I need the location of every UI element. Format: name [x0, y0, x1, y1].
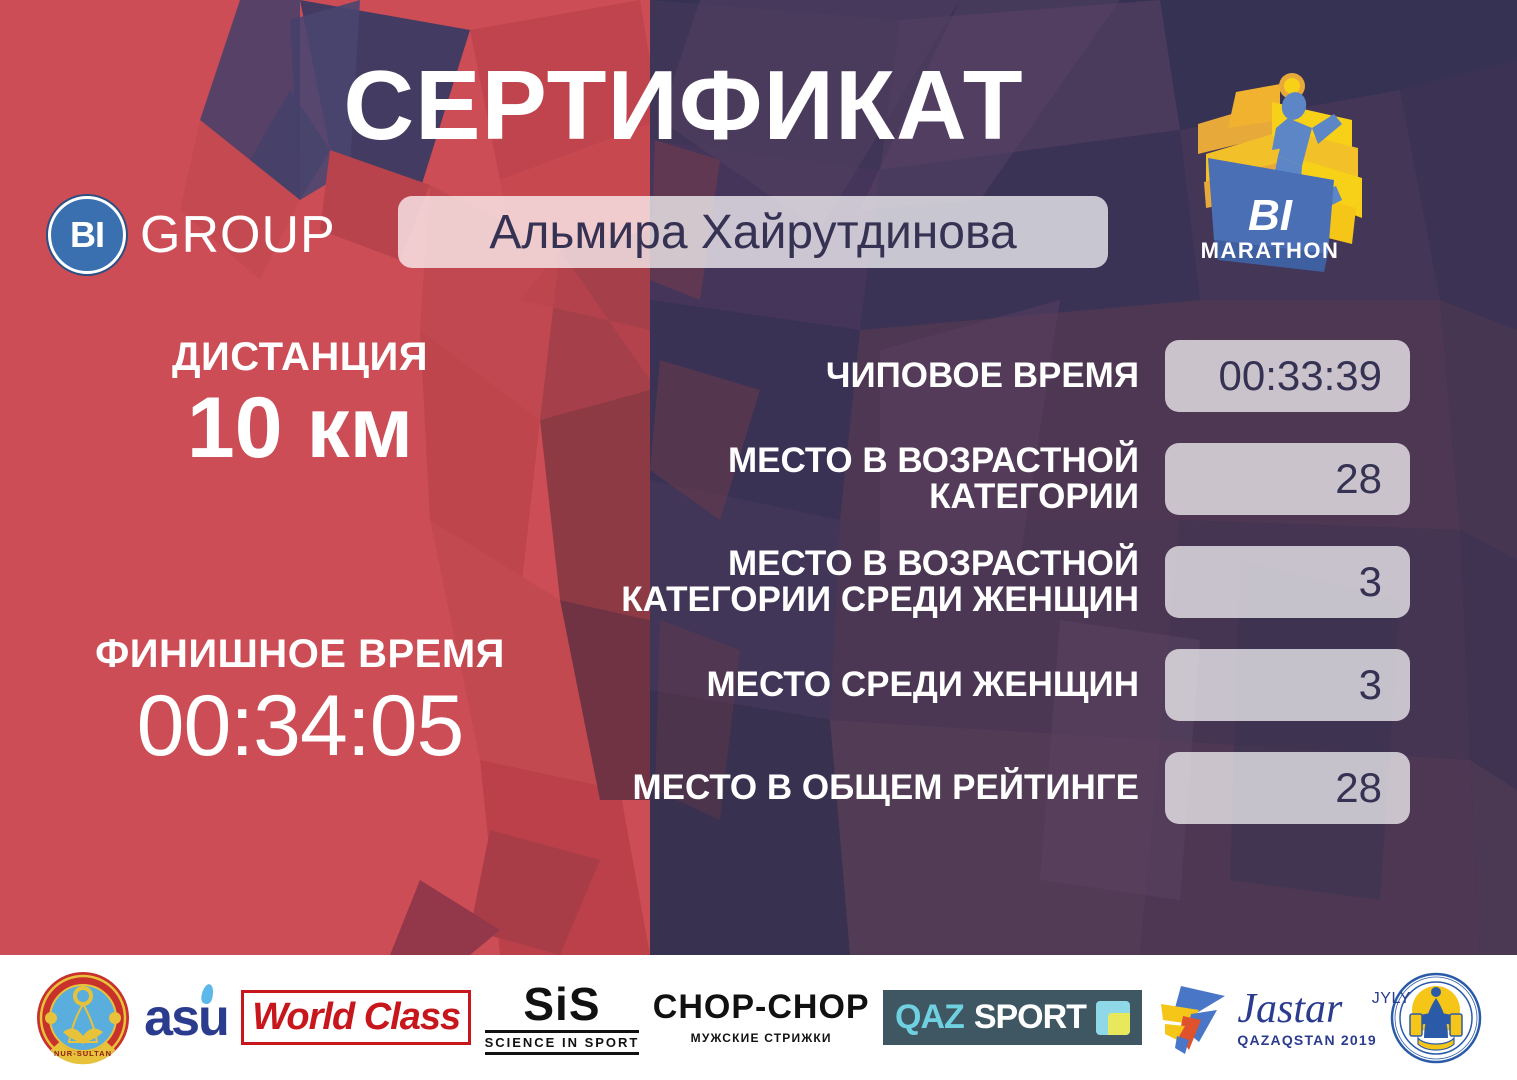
- sponsor-world-class-label: World Class: [241, 990, 471, 1045]
- sponsor-sis-tagline: SCIENCE IN SPORT: [485, 1030, 640, 1055]
- distance-label: ДИСТАНЦИЯ: [0, 336, 600, 379]
- stat-row: МЕСТО СРЕДИ ЖЕНЩИН 3: [600, 649, 1410, 721]
- sponsor-jastar-tagline: QAZAQSTAN 2019: [1237, 1032, 1376, 1048]
- stat-row: МЕСТО В ВОЗРАСТНОЙ КАТЕГОРИИ СРЕДИ ЖЕНЩИ…: [600, 546, 1410, 618]
- sponsor-jastar-logo: Jastar JYLY QAZAQSTAN 2019: [1155, 968, 1376, 1068]
- certificate-canvas: СЕРТИФИКАТ BI GROUP Альмира Хайрутдинова: [0, 0, 1517, 1080]
- stat-label: МЕСТО В ВОЗРАСТНОЙ КАТЕГОРИИ СРЕДИ ЖЕНЩИ…: [600, 546, 1165, 617]
- sponsor-ministry-icon: [1390, 968, 1482, 1068]
- stat-label: МЕСТО СРЕДИ ЖЕНЩИН: [600, 667, 1165, 703]
- jastar-bird-icon: [1155, 980, 1229, 1056]
- finish-time-block: ФИНИШНОЕ ВРЕМЯ 00:34:05: [0, 633, 600, 770]
- stat-value-field: 3: [1165, 546, 1410, 618]
- sponsor-chop-chop-tagline: МУЖСКИЕ СТРИЖКИ: [653, 1031, 870, 1045]
- marathon-logo-bi: BI: [1248, 191, 1293, 240]
- stat-label: МЕСТО В ВОЗРАСТНОЙ КАТЕГОРИИ: [600, 443, 1165, 514]
- sponsor-footer: NUR-SULTAN asu World Class SiS SCIENCE I…: [0, 955, 1517, 1080]
- results-stats-list: ЧИПОВОЕ ВРЕМЯ 00:33:39 МЕСТО В ВОЗРАСТНО…: [600, 340, 1410, 855]
- stat-value-field: 00:33:39: [1165, 340, 1410, 412]
- sponsor-qazsport-label-a: QAZ: [895, 998, 964, 1037]
- distance-value: 10 км: [0, 383, 600, 473]
- stat-label: ЧИПОВОЕ ВРЕМЯ: [600, 358, 1165, 394]
- stat-label: МЕСТО В ОБЩЕМ РЕЙТИНГЕ: [600, 770, 1165, 806]
- sponsor-chop-chop-logo: CHOP-CHOP МУЖСКИЕ СТРИЖКИ: [653, 968, 870, 1068]
- sponsor-chop-chop-label: CHOP-CHOP: [653, 990, 870, 1024]
- stat-value: 3: [1359, 661, 1382, 709]
- stat-value-field: 3: [1165, 649, 1410, 721]
- distance-block: ДИСТАНЦИЯ 10 км: [0, 336, 600, 473]
- stat-row: МЕСТО В ВОЗРАСТНОЙ КАТЕГОРИИ 28: [600, 443, 1410, 515]
- participant-name: Альмира Хайрутдинова: [489, 205, 1016, 260]
- stat-value-field: 28: [1165, 443, 1410, 515]
- marathon-logo-word: MARATHON: [1201, 238, 1340, 263]
- stat-value: 28: [1335, 764, 1382, 812]
- bi-marathon-logo: BI MARATHON: [1176, 58, 1376, 298]
- sponsor-asu-logo: asu: [144, 968, 228, 1068]
- left-summary-column: ДИСТАНЦИЯ 10 км ФИНИШНОЕ ВРЕМЯ 00:34:05: [0, 336, 600, 771]
- stat-value-field: 28: [1165, 752, 1410, 824]
- sponsor-jastar-superscript: JYLY: [1372, 990, 1411, 1008]
- finish-time-value: 00:34:05: [0, 681, 600, 771]
- finish-time-label: ФИНИШНОЕ ВРЕМЯ: [0, 633, 600, 676]
- column-spacer: [0, 473, 600, 633]
- sponsor-sis-label: SiS: [485, 981, 640, 1027]
- sponsor-sis-logo: SiS SCIENCE IN SPORT: [485, 968, 640, 1068]
- sponsor-world-class-logo: World Class: [241, 968, 471, 1068]
- stat-value: 00:33:39: [1219, 352, 1383, 400]
- stat-row: МЕСТО В ОБЩЕМ РЕЙТИНГЕ 28: [600, 752, 1410, 824]
- stat-value: 3: [1359, 558, 1382, 606]
- qazsport-square-icon: [1096, 1001, 1130, 1035]
- svg-text:NUR-SULTAN: NUR-SULTAN: [54, 1049, 112, 1058]
- bi-group-mark: BI: [48, 196, 126, 274]
- sponsor-asu-label: asu: [144, 989, 228, 1047]
- sponsor-nur-sultan-icon: NUR-SULTAN: [35, 968, 131, 1068]
- bi-group-logo: BI GROUP: [48, 196, 336, 274]
- sponsor-jastar-label: Jastar: [1237, 988, 1376, 1030]
- stat-value: 28: [1335, 455, 1382, 503]
- stat-row: ЧИПОВОЕ ВРЕМЯ 00:33:39: [600, 340, 1410, 412]
- bi-group-wordmark: GROUP: [140, 205, 336, 265]
- participant-name-field: Альмира Хайрутдинова: [398, 196, 1108, 268]
- sponsor-qazsport-label-b: SPORT: [974, 998, 1086, 1037]
- sponsor-qazsport-logo: QAZ SPORT: [883, 968, 1142, 1068]
